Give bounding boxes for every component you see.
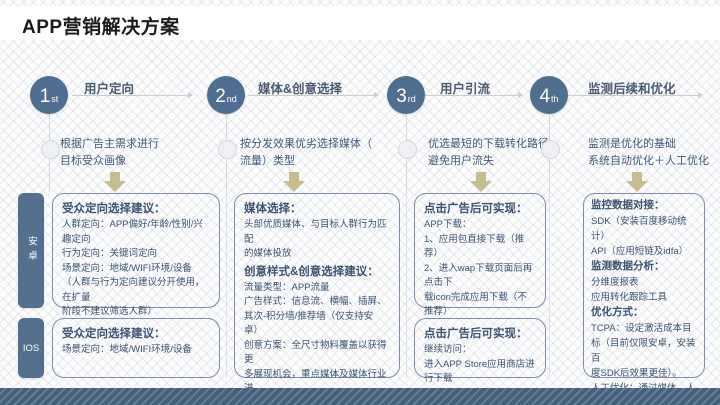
box-media-creative[interactable]: 媒体选择： 头部优质媒体、与目标人群行为匹配 的媒体投放 创意样式&创意选择建议… (234, 193, 400, 378)
os-tab-android-label: 安卓 (18, 236, 44, 265)
step-node-3 (398, 140, 417, 159)
box-body-secondary: 分维度报表 应用转化跟踪工具 (591, 275, 697, 305)
down-arrow-4 (626, 172, 648, 192)
step-number-2: 2 (215, 76, 226, 106)
box-user-targeting-android[interactable]: 受众定向选择建议： 人群定向：APP偏好/年龄/性别/兴趣定向 行为定向：关键词… (52, 193, 220, 308)
down-arrow-1 (104, 172, 126, 192)
step-number-1: 1 (40, 76, 51, 106)
box-heading-tertiary: 优化方式： (591, 305, 697, 320)
step-label-2: 媒体&创意选择 (258, 78, 342, 97)
step-node-4 (541, 140, 560, 159)
timeline-arrowhead-1 (188, 92, 193, 98)
os-tab-ios[interactable]: IOS (18, 318, 44, 378)
column-separator-3 (549, 192, 550, 378)
step-caption-2: 按分发效果优劣选择媒体（ 流量）类型 (240, 136, 400, 170)
step-number-3: 3 (396, 76, 407, 106)
footer-bar (0, 388, 720, 405)
down-arrow-2 (283, 172, 305, 192)
step-caption-1: 根据广告主需求进行 目标受众画像 (60, 136, 210, 170)
box-body: 头部优质媒体、与目标人群行为匹配 的媒体投放 (244, 218, 390, 262)
timeline-arrowhead-3 (518, 92, 523, 98)
box-body-secondary: 流量类型：APP流量 广告样式：信息流、横幅、插屏、 其次-积分墙/推荐墙（仅支… (244, 281, 390, 405)
timeline-step-4[interactable]: 4 th (530, 76, 568, 114)
box-body: 继续访问： 进入APP Store应用商店进行下载 (424, 343, 536, 387)
box-body: SDK（安装百度移动统计） API（应用短链及idfa） (591, 214, 697, 259)
timeline-step-3[interactable]: 3 rd (387, 76, 425, 114)
box-heading-secondary: 创意样式&创意选择建议： (244, 264, 390, 280)
column-separator-2 (406, 192, 407, 378)
slide-canvas: APP营销解决方案 1 st 用户定向 根据广告主需求进行 目标受众画像 2 n… (0, 0, 720, 405)
step-number-4: 4 (539, 76, 550, 106)
box-user-targeting-ios[interactable]: 受众定向选择建议： 场景定向：地域/WIFI环境/设备 (52, 318, 220, 378)
step-label-3: 用户引流 (440, 78, 490, 97)
timeline-arrowhead-2 (374, 92, 379, 98)
box-body: 人群定向：APP偏好/年龄/性别/兴趣定向 行为定向：关键词定向 场景定向：地域… (62, 218, 210, 320)
timeline-step-2[interactable]: 2 nd (207, 76, 245, 114)
step-node-2 (218, 140, 237, 159)
box-monitor-optimize[interactable]: 监控数据对接： SDK（安装百度移动统计） API（应用短链及idfa） 监测数… (583, 193, 705, 378)
step-ordinal-1: st (50, 95, 58, 104)
page-title: APP营销解决方案 (22, 12, 180, 39)
step-node-1 (41, 140, 60, 159)
step-label-1: 用户定向 (84, 78, 134, 97)
box-heading: 监控数据对接： (591, 198, 697, 213)
step-ordinal-4: th (550, 95, 559, 104)
step-caption-4: 监测是优化的基础 系统自动优化＋人工优化 (588, 136, 720, 170)
box-body: APP下载： 1、应用包直接下载（推荐） 2、进入wap下载页面后再点击下 载i… (424, 218, 536, 320)
column-separator-1 (226, 192, 227, 378)
step-label-4: 监测后续和优化 (588, 78, 676, 97)
box-heading: 点击广告后可实现： (424, 201, 536, 217)
box-heading: 受众定向选择建议： (62, 326, 210, 342)
step-caption-3: 优选最短的下载转化路径 避免用户流失 (428, 136, 588, 170)
box-heading: 媒体选择： (244, 201, 390, 217)
box-user-acquisition-ios[interactable]: 点击广告后可实现： 继续访问： 进入APP Store应用商店进行下载 (414, 318, 546, 378)
os-tab-android[interactable]: 安卓 (18, 193, 44, 308)
box-heading: 点击广告后可实现： (424, 326, 536, 342)
down-arrow-3 (470, 172, 492, 192)
step-ordinal-2: nd (226, 95, 237, 104)
box-heading: 受众定向选择建议： (62, 201, 210, 217)
step-ordinal-3: rd (407, 95, 416, 104)
timeline-arrowhead-4 (698, 92, 703, 98)
box-heading-secondary: 监测数据分析： (591, 259, 697, 274)
os-tab-ios-label: IOS (23, 343, 39, 354)
box-body: 场景定向：地域/WIFI环境/设备 (62, 343, 210, 358)
timeline-step-1[interactable]: 1 st (30, 76, 68, 114)
box-user-acquisition-android[interactable]: 点击广告后可实现： APP下载： 1、应用包直接下载（推荐） 2、进入wap下载… (414, 193, 546, 308)
